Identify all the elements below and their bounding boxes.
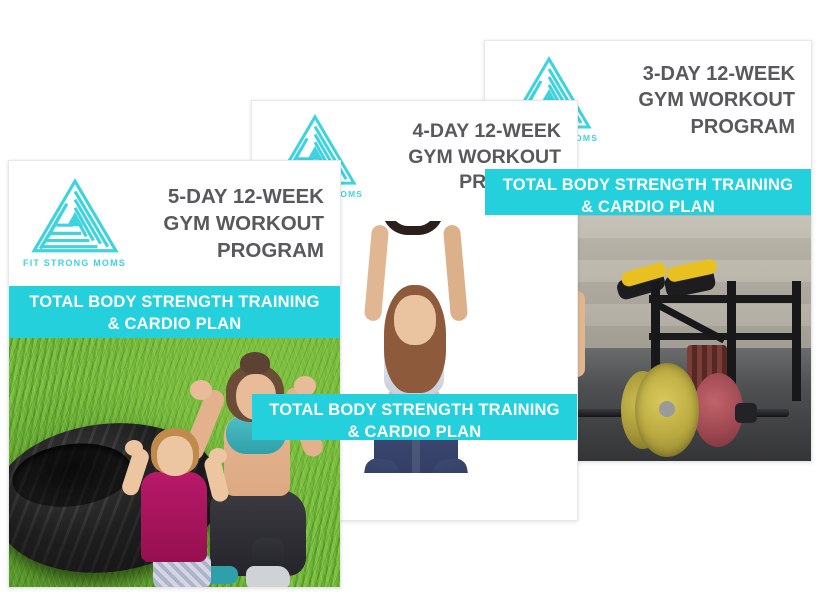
mother-fist-left bbox=[190, 380, 212, 400]
mother-shoe bbox=[246, 566, 290, 588]
card-banner-4-day: TOTAL BODY STRENGTH TRAINING & CARDIO PL… bbox=[252, 394, 577, 440]
athlete-arm-left bbox=[363, 224, 388, 321]
toddler-fist-left bbox=[125, 440, 143, 456]
program-card-5-day[interactable]: FIT STRONG MOMS 5-DAY 12-WEEK GYM WORKOU… bbox=[8, 160, 341, 588]
barbell-collar bbox=[735, 403, 757, 423]
title-line-2: GYM WORKOUT bbox=[598, 87, 795, 113]
title-line-2: GYM WORKOUT bbox=[363, 145, 561, 171]
title-line-3: PROGRAM bbox=[126, 237, 324, 264]
card-title-5-day: 5-DAY 12-WEEK GYM WORKOUT PROGRAM bbox=[126, 177, 330, 264]
banner-line-1: TOTAL BODY STRENGTH TRAINING bbox=[489, 174, 807, 196]
rack-post-right bbox=[792, 281, 801, 401]
toddler-head bbox=[157, 436, 193, 476]
toddler-pink-shirt bbox=[141, 472, 207, 562]
brand-wordmark-5-day: FIT STRONG MOMS bbox=[23, 259, 126, 268]
program-cover-stack: FIT STRONG MOMS 3-DAY 12-WEEK GYM WORKOU… bbox=[0, 0, 820, 594]
banner-line-2: & CARDIO PLAN bbox=[13, 313, 336, 335]
banner-line-1: TOTAL BODY STRENGTH TRAINING bbox=[256, 399, 573, 421]
card-photo-5-day-tire-flip bbox=[9, 338, 340, 588]
title-line-2: GYM WORKOUT bbox=[126, 210, 324, 237]
card-title-3-day: 3-DAY 12-WEEK GYM WORKOUT PROGRAM bbox=[598, 55, 801, 140]
title-line-1: 5-DAY 12-WEEK bbox=[126, 183, 324, 210]
nested-triangle-logo-icon bbox=[30, 177, 120, 257]
athlete-head bbox=[394, 295, 436, 345]
toddler-fist-right bbox=[209, 448, 227, 464]
card-header-5-day: FIT STRONG MOMS 5-DAY 12-WEEK GYM WORKOU… bbox=[9, 161, 340, 286]
card-banner-5-day: TOTAL BODY STRENGTH TRAINING & CARDIO PL… bbox=[9, 286, 340, 338]
barbell-plate-yellow-outer bbox=[635, 363, 699, 457]
banner-line-1: TOTAL BODY STRENGTH TRAINING bbox=[13, 291, 336, 313]
mother-fist-right bbox=[294, 376, 316, 396]
brand-logo-5-day: FIT STRONG MOMS bbox=[23, 177, 126, 268]
banner-line-2: & CARDIO PLAN bbox=[256, 421, 573, 443]
toddler-figure bbox=[127, 428, 223, 588]
card-banner-3-day: TOTAL BODY STRENGTH TRAINING & CARDIO PL… bbox=[485, 169, 811, 215]
title-line-1: 3-DAY 12-WEEK bbox=[598, 61, 795, 87]
title-line-1: 4-DAY 12-WEEK bbox=[363, 119, 561, 145]
kettlebell-handle bbox=[382, 221, 444, 235]
athlete-arm-right bbox=[442, 224, 467, 321]
title-line-3: PROGRAM bbox=[598, 114, 795, 140]
banner-line-2: & CARDIO PLAN bbox=[489, 196, 807, 218]
rack-crossbar-upper bbox=[649, 295, 799, 303]
mother-hair-bun bbox=[240, 352, 270, 374]
